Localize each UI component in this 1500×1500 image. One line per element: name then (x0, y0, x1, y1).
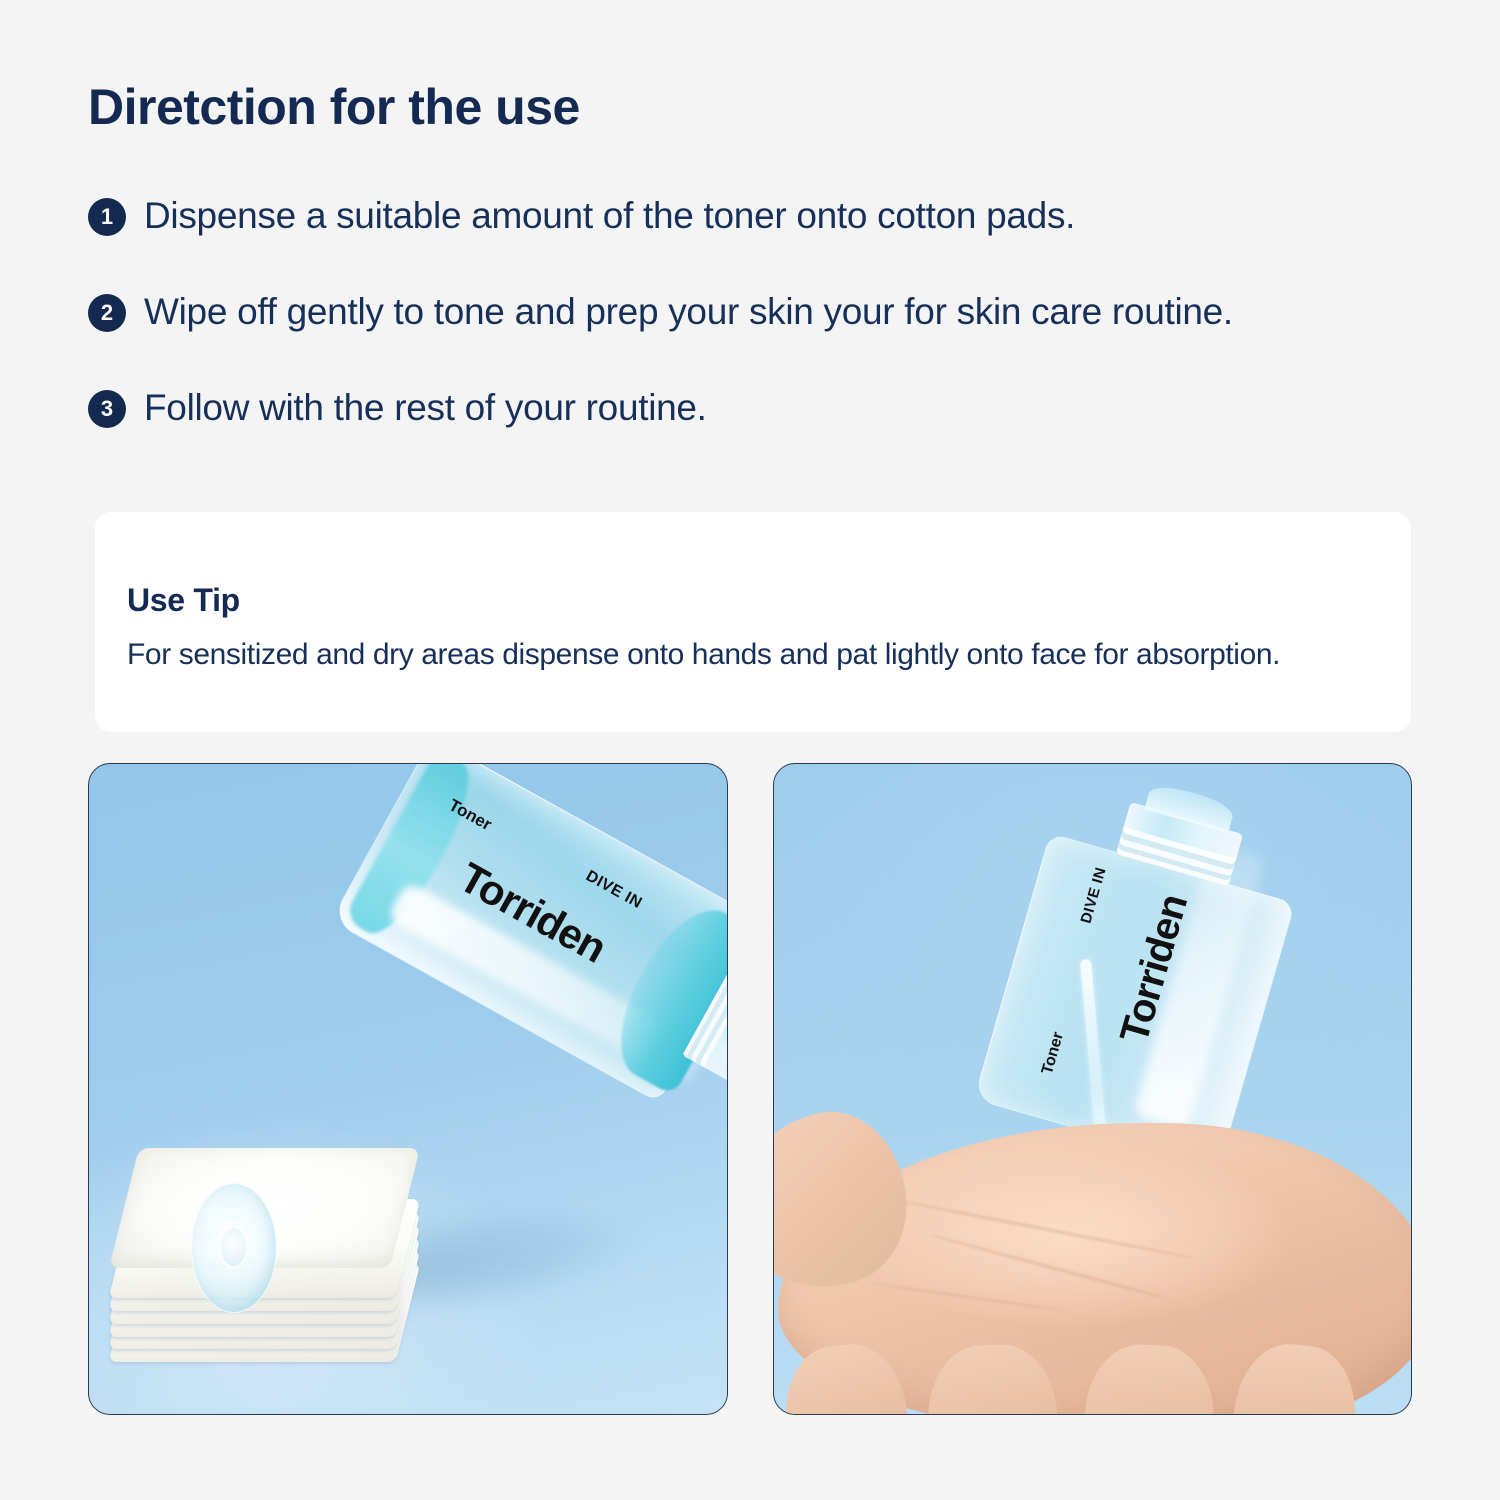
product-line-label: DIVE IN (582, 867, 644, 912)
step-text-2: Wipe off gently to tone and prep your sk… (144, 289, 1233, 335)
step-text-1: Dispense a suitable amount of the toner … (144, 193, 1075, 239)
page-title: Diretction for the use (88, 78, 580, 136)
palm-crease (899, 1199, 1196, 1260)
bottle-label: Torriden Toner DIVE IN (331, 763, 728, 1103)
bottle-cap-icon (191, 1183, 277, 1313)
photo-cotton-pads: Torriden Toner DIVE IN (88, 763, 728, 1415)
step-number-badge-1: 1 (88, 198, 126, 236)
photo-gallery: Torriden Toner DIVE IN Torriden Toner DI… (88, 763, 1412, 1415)
instruction-page: Diretction for the use 1 Dispense a suit… (0, 0, 1500, 1500)
step-text-3: Follow with the rest of your routine. (144, 385, 707, 431)
product-type-label: Toner (446, 796, 496, 836)
steps-list: 1 Dispense a suitable amount of the tone… (88, 193, 1418, 481)
use-tip-title: Use Tip (127, 582, 240, 619)
use-tip-card: Use Tip For sensitized and dry areas dis… (95, 512, 1411, 732)
open-palm (773, 1102, 1413, 1415)
toner-bottle-left: Torriden Toner DIVE IN (331, 763, 728, 1154)
use-tip-body: For sensitized and dry areas dispense on… (127, 638, 1280, 672)
step-number-badge-3: 3 (88, 390, 126, 428)
step-number-badge-2: 2 (88, 294, 126, 332)
step-item-2: 2 Wipe off gently to tone and prep your … (88, 289, 1418, 385)
step-item-1: 1 Dispense a suitable amount of the tone… (88, 193, 1418, 289)
photo-pour-into-palm: Torriden Toner DIVE IN (773, 763, 1413, 1415)
palm-crease (871, 1282, 1066, 1311)
step-item-3: 3 Follow with the rest of your routine. (88, 385, 1418, 481)
palm-crease (926, 1233, 1168, 1301)
